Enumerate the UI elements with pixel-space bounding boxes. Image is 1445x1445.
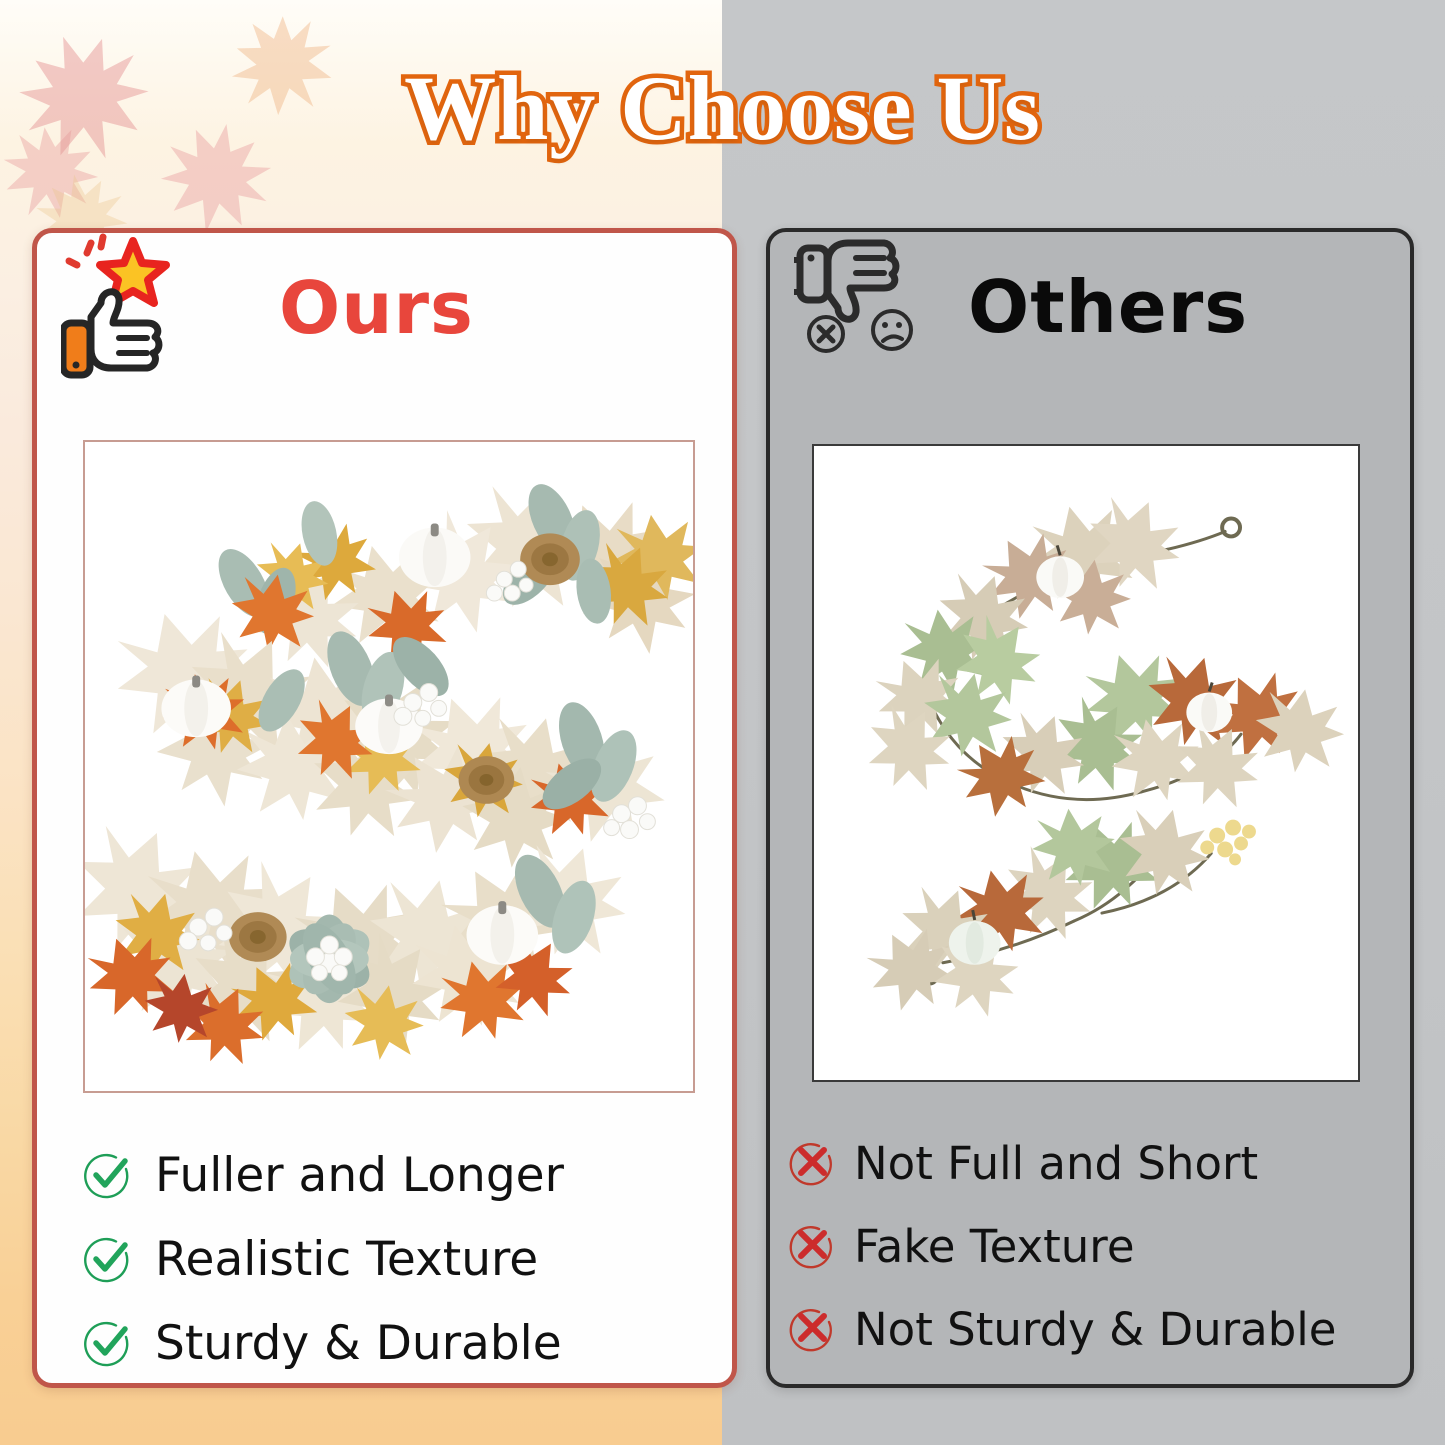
- feature-label: Not Full and Short: [854, 1137, 1258, 1190]
- x-circle-icon: [788, 1139, 838, 1189]
- check-circle-icon: [83, 1234, 133, 1284]
- ours-header: Ours: [37, 233, 732, 383]
- x-circle-icon: [788, 1305, 838, 1355]
- list-item: Fake Texture: [788, 1205, 1410, 1288]
- comparison-card-others: Others: [766, 228, 1414, 1388]
- x-circle-icon: [788, 1222, 838, 1272]
- page-title: Why Choose Us: [404, 62, 1041, 156]
- thumbs-up-icon: [61, 231, 193, 386]
- list-item: Not Sturdy & Durable: [788, 1288, 1410, 1371]
- others-product-image: [812, 444, 1360, 1082]
- check-circle-icon: [83, 1150, 133, 1200]
- others-feature-list: Not Full and Short Fake Texture: [770, 1122, 1410, 1371]
- feature-label: Fuller and Longer: [155, 1148, 564, 1203]
- comparison-card-ours: Ours: [32, 228, 737, 1388]
- others-header: Others: [770, 232, 1410, 382]
- thumbs-down-icon: [794, 230, 926, 385]
- page-title-wrap: Why Choose Us: [0, 62, 1445, 156]
- feature-label: Fake Texture: [854, 1220, 1135, 1273]
- check-circle-icon: [83, 1318, 133, 1368]
- list-item: Not Full and Short: [788, 1122, 1410, 1205]
- feature-label: Not Sturdy & Durable: [854, 1303, 1336, 1356]
- list-item: Fuller and Longer: [83, 1133, 732, 1217]
- ours-heading: Ours: [279, 266, 474, 350]
- ours-feature-list: Fuller and Longer Realistic Texture: [37, 1133, 732, 1385]
- feature-label: Sturdy & Durable: [155, 1316, 562, 1371]
- ours-product-image: [83, 440, 695, 1093]
- others-heading: Others: [968, 265, 1248, 349]
- infographic-stage: Why Choose Us: [0, 0, 1445, 1445]
- feature-label: Realistic Texture: [155, 1232, 538, 1287]
- list-item: Realistic Texture: [83, 1217, 732, 1301]
- list-item: Sturdy & Durable: [83, 1301, 732, 1385]
